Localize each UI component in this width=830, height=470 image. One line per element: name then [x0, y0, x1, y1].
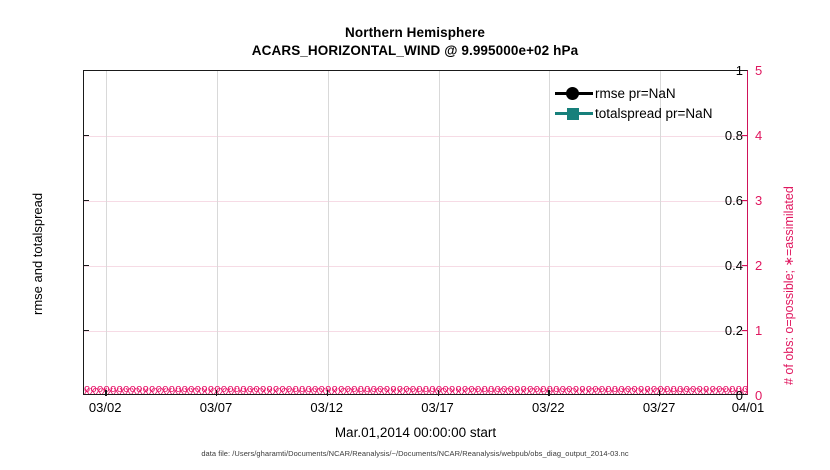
data-file-footer: data file: /Users/gharamti/Documents/NCA… [0, 449, 830, 458]
gridline-vertical [217, 71, 218, 394]
page-title: Northern Hemisphere [0, 24, 830, 42]
legend-label-rmse: rmse pr=NaN [595, 86, 676, 101]
y-axis-label-right: # of obs: o=possible; ∗=assimilated [781, 186, 796, 385]
legend-item-rmse[interactable]: rmse pr=NaN [553, 83, 745, 103]
x-axis-label: Mar.01,2014 00:00:00 start [83, 425, 748, 440]
chart-title-block: Northern Hemisphere ACARS_HORIZONTAL_WIN… [0, 24, 830, 60]
gridline-vertical [106, 71, 107, 394]
obs-assimilated-markers: xxxxxxxxxxxxxxxxxxxxxxxxxxxxxxxxxxxxxxxx… [84, 386, 747, 397]
tickmark-right [742, 330, 748, 331]
xtick-label: 03/02 [70, 400, 140, 415]
ytick-label-left: 0.6 [703, 193, 743, 208]
gridline-horizontal [84, 266, 747, 267]
xtick-label: 04/01 [713, 400, 783, 415]
xtick-label: 03/22 [513, 400, 583, 415]
obs-possible-markers: oooooooooooooooooooooooooooooooooooooooo… [84, 384, 747, 395]
gridline-vertical [549, 71, 550, 394]
ytick-label-left: 0.2 [703, 323, 743, 338]
circle-marker-icon [566, 87, 579, 100]
tickmark-left [83, 135, 89, 136]
xtick-label: 03/27 [624, 400, 694, 415]
tickmark-left [83, 265, 89, 266]
gridline-horizontal [84, 201, 747, 202]
legend-swatch-totalspread [553, 104, 595, 122]
tickmark-right [742, 135, 748, 136]
square-marker-icon [567, 108, 579, 120]
legend-label-totalspread: totalspread pr=NaN [595, 106, 712, 121]
gridline-vertical [439, 71, 440, 394]
obs-marker-band: oooooooooooooooooooooooooooooooooooooooo… [84, 384, 747, 397]
ytick-label-left: 0.4 [703, 258, 743, 273]
plot-area[interactable]: oooooooooooooooooooooooooooooooooooooooo… [83, 70, 748, 395]
xtick-label: 03/17 [403, 400, 473, 415]
ytick-label-left: 1 [703, 63, 743, 78]
chart-subtitle: ACARS_HORIZONTAL_WIND @ 9.995000e+02 hPa [0, 42, 830, 60]
tickmark-bottom [105, 390, 106, 396]
xtick-label: 03/12 [292, 400, 362, 415]
y-axis-label-left: rmse and totalspread [30, 193, 45, 315]
legend[interactable]: rmse pr=NaN totalspread pr=NaN [553, 83, 745, 123]
ytick-label-right: 5 [755, 63, 785, 78]
tickmark-bottom [659, 390, 660, 396]
tickmark-bottom [438, 390, 439, 396]
legend-item-totalspread[interactable]: totalspread pr=NaN [553, 103, 745, 123]
tickmark-bottom [548, 390, 549, 396]
tickmark-bottom [216, 390, 217, 396]
tickmark-bottom [327, 390, 328, 396]
tickmark-right [742, 200, 748, 201]
gridline-horizontal [84, 331, 747, 332]
ytick-label-left: 0.8 [703, 128, 743, 143]
tickmark-right [742, 265, 748, 266]
legend-swatch-rmse [553, 84, 595, 102]
xtick-label: 03/07 [181, 400, 251, 415]
ytick-label-right: 4 [755, 128, 785, 143]
tickmark-left [83, 200, 89, 201]
tickmark-left [83, 330, 89, 331]
gridline-vertical [328, 71, 329, 394]
gridline-horizontal [84, 136, 747, 137]
